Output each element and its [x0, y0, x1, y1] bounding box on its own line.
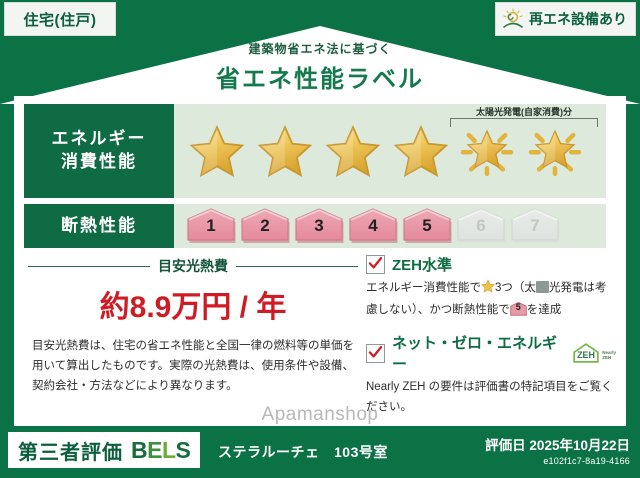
bels-letter-s: S — [176, 437, 191, 464]
cost-rule-left — [28, 266, 150, 267]
label-card: エネルギー 消費性能 — [14, 96, 626, 426]
claim-text-mid: 3つ（太 — [495, 282, 536, 294]
label-footer: 第三者評価 BELS ステラルーチェ 103号室 評価日 2025年10月22日… — [0, 426, 640, 478]
star-solar-icon — [524, 119, 590, 183]
bels-letter-e: E — [147, 437, 162, 464]
house-level-number: 5 — [510, 303, 527, 312]
insulation-performance-row: 断熱性能 1 — [24, 204, 606, 248]
claim-zeh-standard-head: ZEH水準 — [366, 254, 616, 275]
utility-cost-note: 目安光熱費は、住宅の省エネ性能と全国一律の燃料等の単価を用いて算出したものです。… — [28, 336, 358, 396]
insulation-label-text: 断熱性能 — [61, 215, 137, 238]
zeh-sub-line2: ZEH — [602, 355, 611, 360]
star-solar-icon — [456, 119, 522, 183]
insulation-performance-label: 断熱性能 — [24, 204, 174, 248]
zeh-logo-subtext: Nearly ZEH — [602, 351, 616, 364]
evaluation-id: e102f1c7-8a19-4166 — [485, 456, 630, 466]
insulation-house-empty: 7 — [509, 207, 561, 245]
insulation-level-scale: 1 2 — [174, 207, 561, 245]
energy-performance-row: エネルギー 消費性能 — [24, 104, 606, 198]
star-filled-icon — [320, 119, 386, 183]
insulation-level-number: 6 — [455, 217, 507, 234]
cost-heading-text: 目安光熱費 — [158, 256, 228, 276]
insulation-house-filled: 5 — [401, 207, 453, 245]
star-filled-icon — [388, 119, 454, 183]
zeh-house-icon: ZEH — [571, 342, 601, 364]
insulation-level-number: 7 — [509, 217, 561, 234]
redaction-block — [536, 281, 549, 293]
claim-net-zero-title: ネット・ゼロ・エネルギー — [392, 332, 560, 374]
claim-net-zero-head: ネット・ゼロ・エネルギー ZEH Nearly ZEH — [366, 332, 616, 374]
insulation-level-number: 3 — [293, 217, 345, 234]
property-name: ステラルーチェ 103号室 — [218, 442, 388, 462]
evaluation-info: 評価日 2025年10月22日 e102f1c7-8a19-4166 — [485, 434, 630, 466]
renewable-badge-label: 再エネ設備あり — [529, 9, 627, 29]
insulation-level-number: 1 — [185, 217, 237, 234]
renewable-equipment-badge: 再エネ設備あり — [495, 2, 636, 36]
insulation-level-number: 5 — [401, 217, 453, 234]
header-text-block: 建築物省エネ法に基づく 省エネ性能ラベル — [0, 40, 640, 94]
energy-label-line1: エネルギー — [52, 128, 147, 151]
third-party-evaluation-label: 第三者評価 — [18, 436, 123, 465]
insulation-house-filled: 4 — [347, 207, 399, 245]
insulation-house-filled: 3 — [293, 207, 345, 245]
utility-cost-block: 目安光熱費 約8.9万円 / 年 目安光熱費は、住宅の省エネ性能と全国一律の燃料… — [28, 256, 358, 396]
utility-cost-heading: 目安光熱費 — [28, 256, 358, 276]
claim-zeh-standard-body: エネルギー消費性能で 3つ（太光発電は考慮しない）、かつ断熱性能で 5 を達成 — [366, 279, 616, 320]
checkbox-checked-icon — [366, 344, 385, 363]
insulation-performance-body: 1 2 — [174, 204, 606, 248]
energy-label-line2: 消費性能 — [61, 151, 137, 174]
bels-certification-mark: 第三者評価 BELS — [8, 432, 200, 468]
star-filled-icon — [184, 119, 250, 183]
star-rating — [174, 119, 590, 183]
star-filled-icon — [252, 119, 318, 183]
housing-type-badge: 住宅(住戸) — [4, 2, 116, 36]
svg-text:ZEH: ZEH — [577, 350, 595, 360]
star-icon — [481, 279, 495, 301]
energy-performance-body: 太陽光発電(自家消費)分 — [174, 104, 606, 198]
solar-bracket-caption: 太陽光発電(自家消費)分 — [452, 105, 596, 118]
sun-solar-icon — [501, 8, 525, 30]
claim-zeh-standard: ZEH水準 エネルギー消費性能で 3つ（太光発電は考慮しない）、かつ断熱性能で … — [366, 254, 616, 320]
page-title: 省エネ性能ラベル — [0, 59, 640, 94]
claim-zeh-standard-title: ZEH水準 — [392, 254, 452, 275]
bels-logo: BELS — [131, 437, 190, 464]
cost-rule-right — [236, 266, 358, 267]
insulation-house-empty: 6 — [455, 207, 507, 245]
bels-letter-b: B — [131, 437, 147, 464]
header-subtitle: 建築物省エネ法に基づく — [0, 40, 640, 57]
solar-bracket — [450, 118, 598, 127]
insulation-level-number: 2 — [239, 217, 291, 234]
watermark: Apamanshop — [0, 404, 640, 426]
insulation-house-filled: 2 — [239, 207, 291, 245]
evaluation-date: 評価日 2025年10月22日 — [485, 434, 630, 454]
utility-cost-value: 約8.9万円 / 年 — [28, 282, 358, 326]
energy-performance-label: エネルギー 消費性能 — [24, 104, 174, 198]
claim-text-pre: エネルギー消費性能で — [366, 282, 481, 294]
insulation-house-filled: 1 — [185, 207, 237, 245]
bels-energy-label: 建築物省エネ法に基づく 省エネ性能ラベル 住宅(住戸) 再エネ設備あり — [0, 0, 640, 478]
zeh-logo: ZEH Nearly ZEH — [571, 342, 616, 364]
house-level-icon: 5 — [510, 302, 527, 316]
label-header: 建築物省エネ法に基づく 省エネ性能ラベル 住宅(住戸) 再エネ設備あり — [0, 0, 640, 104]
bels-letter-l: L — [162, 437, 176, 464]
claim-text-post: を達成 — [527, 304, 562, 316]
claims-block: ZEH水準 エネルギー消費性能で 3つ（太光発電は考慮しない）、かつ断熱性能で … — [366, 254, 616, 429]
insulation-level-number: 4 — [347, 217, 399, 234]
checkbox-checked-icon — [366, 255, 385, 274]
